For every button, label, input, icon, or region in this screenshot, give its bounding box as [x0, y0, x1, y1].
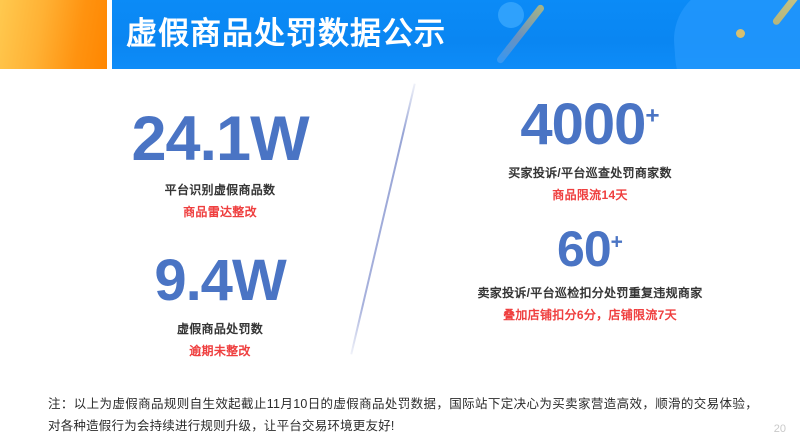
stat-label: 虚假商品处罚数: [60, 320, 380, 337]
title-banner: 虚假商品处罚数据公示: [112, 0, 800, 69]
stat-number: 4000: [520, 92, 645, 157]
page-title: 虚假商品处罚数据公示: [126, 10, 446, 57]
stat-highlight: 叠加店铺扣分6分，店铺限流7天: [420, 306, 760, 323]
stat-highlight: 商品限流14天: [420, 186, 760, 203]
footnote-text: 注：以上为虚假商品规则自生效起截止11月10日的虚假商品处罚数据，国际站下定决心…: [48, 393, 758, 437]
orange-accent-block: [0, 0, 107, 69]
stat-highlight: 商品雷达整改: [60, 203, 380, 220]
decorative-dot-icon: [736, 29, 745, 38]
stat-number: 9.4W: [154, 248, 285, 313]
stat-value: 24.1W: [60, 108, 380, 171]
stat-label: 买家投诉/平台巡查处罚商家数: [420, 164, 760, 181]
stat-card-penalized-merchants: 4000+ 买家投诉/平台巡查处罚商家数 商品限流14天: [420, 96, 760, 203]
decorative-circle-icon: [498, 2, 524, 28]
stat-highlight: 逾期未整改: [60, 342, 380, 359]
stat-superscript: +: [645, 103, 659, 130]
stat-number: 24.1W: [131, 104, 308, 174]
slide-canvas: 虚假商品处罚数据公示 24.1W 平台识别虚假商品数 商品雷达整改 9.4W 虚…: [0, 0, 800, 444]
stat-label: 平台识别虚假商品数: [60, 181, 380, 198]
stat-card-repeat-violation-merchants: 60+ 卖家投诉/平台巡检扣分处罚重复违规商家 叠加店铺扣分6分，店铺限流7天: [420, 224, 760, 323]
stat-value: 4000+: [420, 96, 760, 154]
stat-label: 卖家投诉/平台巡检扣分处罚重复违规商家: [420, 284, 760, 301]
page-number: 20: [774, 423, 786, 435]
stat-card-platform-identified-fake-items: 24.1W 平台识别虚假商品数 商品雷达整改: [60, 108, 380, 220]
stat-card-fake-items-penalized: 9.4W 虚假商品处罚数 逾期未整改: [60, 252, 380, 359]
stat-superscript: +: [611, 230, 623, 253]
stat-value: 60+: [420, 224, 760, 274]
stat-number: 60: [557, 221, 611, 277]
stat-value: 9.4W: [60, 252, 380, 310]
slide-header: 虚假商品处罚数据公示: [0, 0, 800, 69]
